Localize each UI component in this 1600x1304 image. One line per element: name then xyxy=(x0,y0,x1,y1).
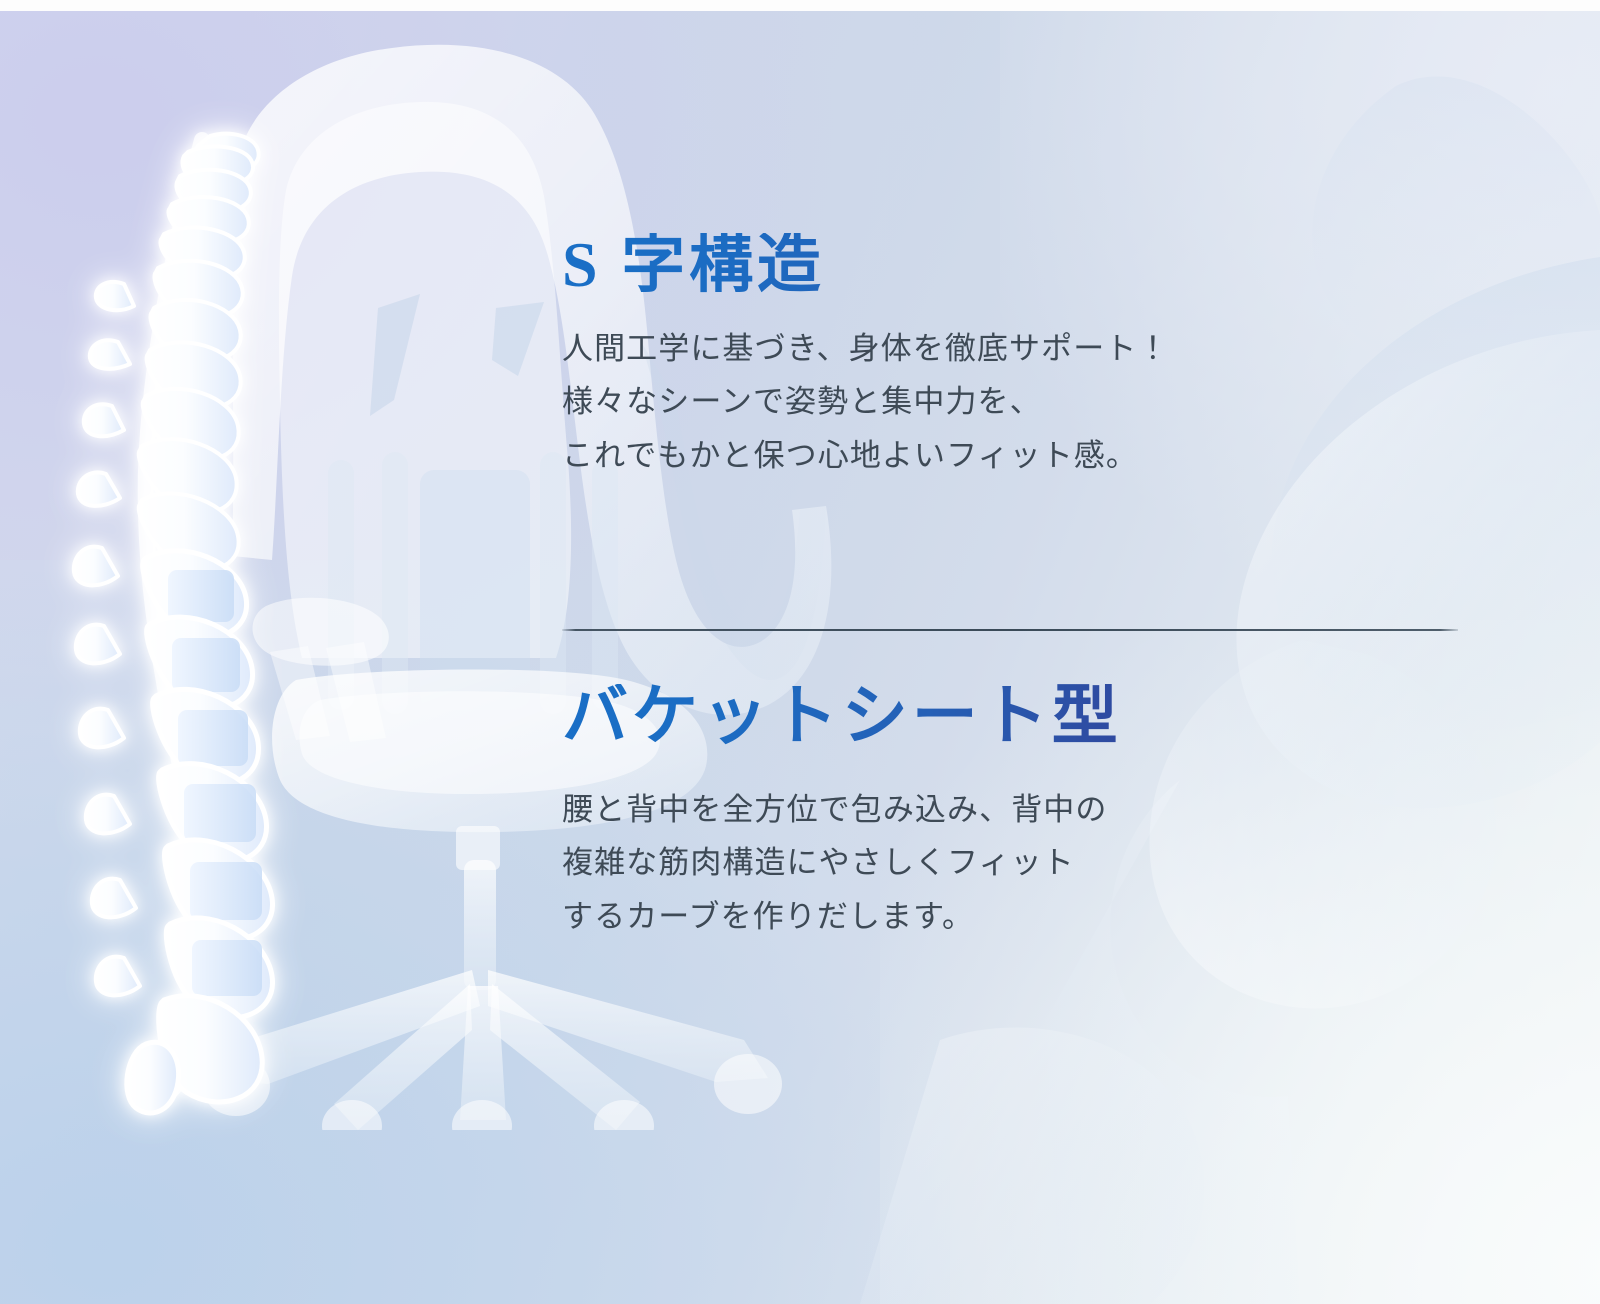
feature-body-line: 人間工学に基づき、身体を徹底サポート！ xyxy=(562,323,1522,376)
feature-block-bucket-seat: バケットシート型 腰と背中を全方位で包み込み、背中の 複雑な筋肉構造にやさしくフ… xyxy=(562,684,1522,944)
content-column: S 字構造 人間工学に基づき、身体を徹底サポート！ 様々なシーンで姿勢と集中力を… xyxy=(562,0,1522,1304)
feature-heading-s-shape: S 字構造 xyxy=(562,233,1522,297)
feature-body-line: 複雑な筋肉構造にやさしくフィット xyxy=(562,837,1522,890)
feature-body-bucket-seat: 腰と背中を全方位で包み込み、背中の 複雑な筋肉構造にやさしくフィット するカーブ… xyxy=(562,784,1522,944)
feature-body-line: これでもかと保つ心地よいフィット感。 xyxy=(562,430,1522,483)
product-feature-page: S 字構造 人間工学に基づき、身体を徹底サポート！ 様々なシーンで姿勢と集中力を… xyxy=(0,0,1600,1304)
feature-body-line: 腰と背中を全方位で包み込み、背中の xyxy=(562,784,1522,837)
section-divider xyxy=(562,629,1458,631)
top-white-strip xyxy=(0,0,1600,11)
feature-block-s-shape: S 字構造 人間工学に基づき、身体を徹底サポート！ 様々なシーンで姿勢と集中力を… xyxy=(562,233,1522,483)
feature-body-line: 様々なシーンで姿勢と集中力を、 xyxy=(562,376,1522,429)
feature-heading-bucket-seat: バケットシート型 xyxy=(562,684,1522,750)
feature-body-s-shape: 人間工学に基づき、身体を徹底サポート！ 様々なシーンで姿勢と集中力を、 これでも… xyxy=(562,323,1522,483)
feature-body-line: するカーブを作りだします。 xyxy=(562,891,1522,944)
